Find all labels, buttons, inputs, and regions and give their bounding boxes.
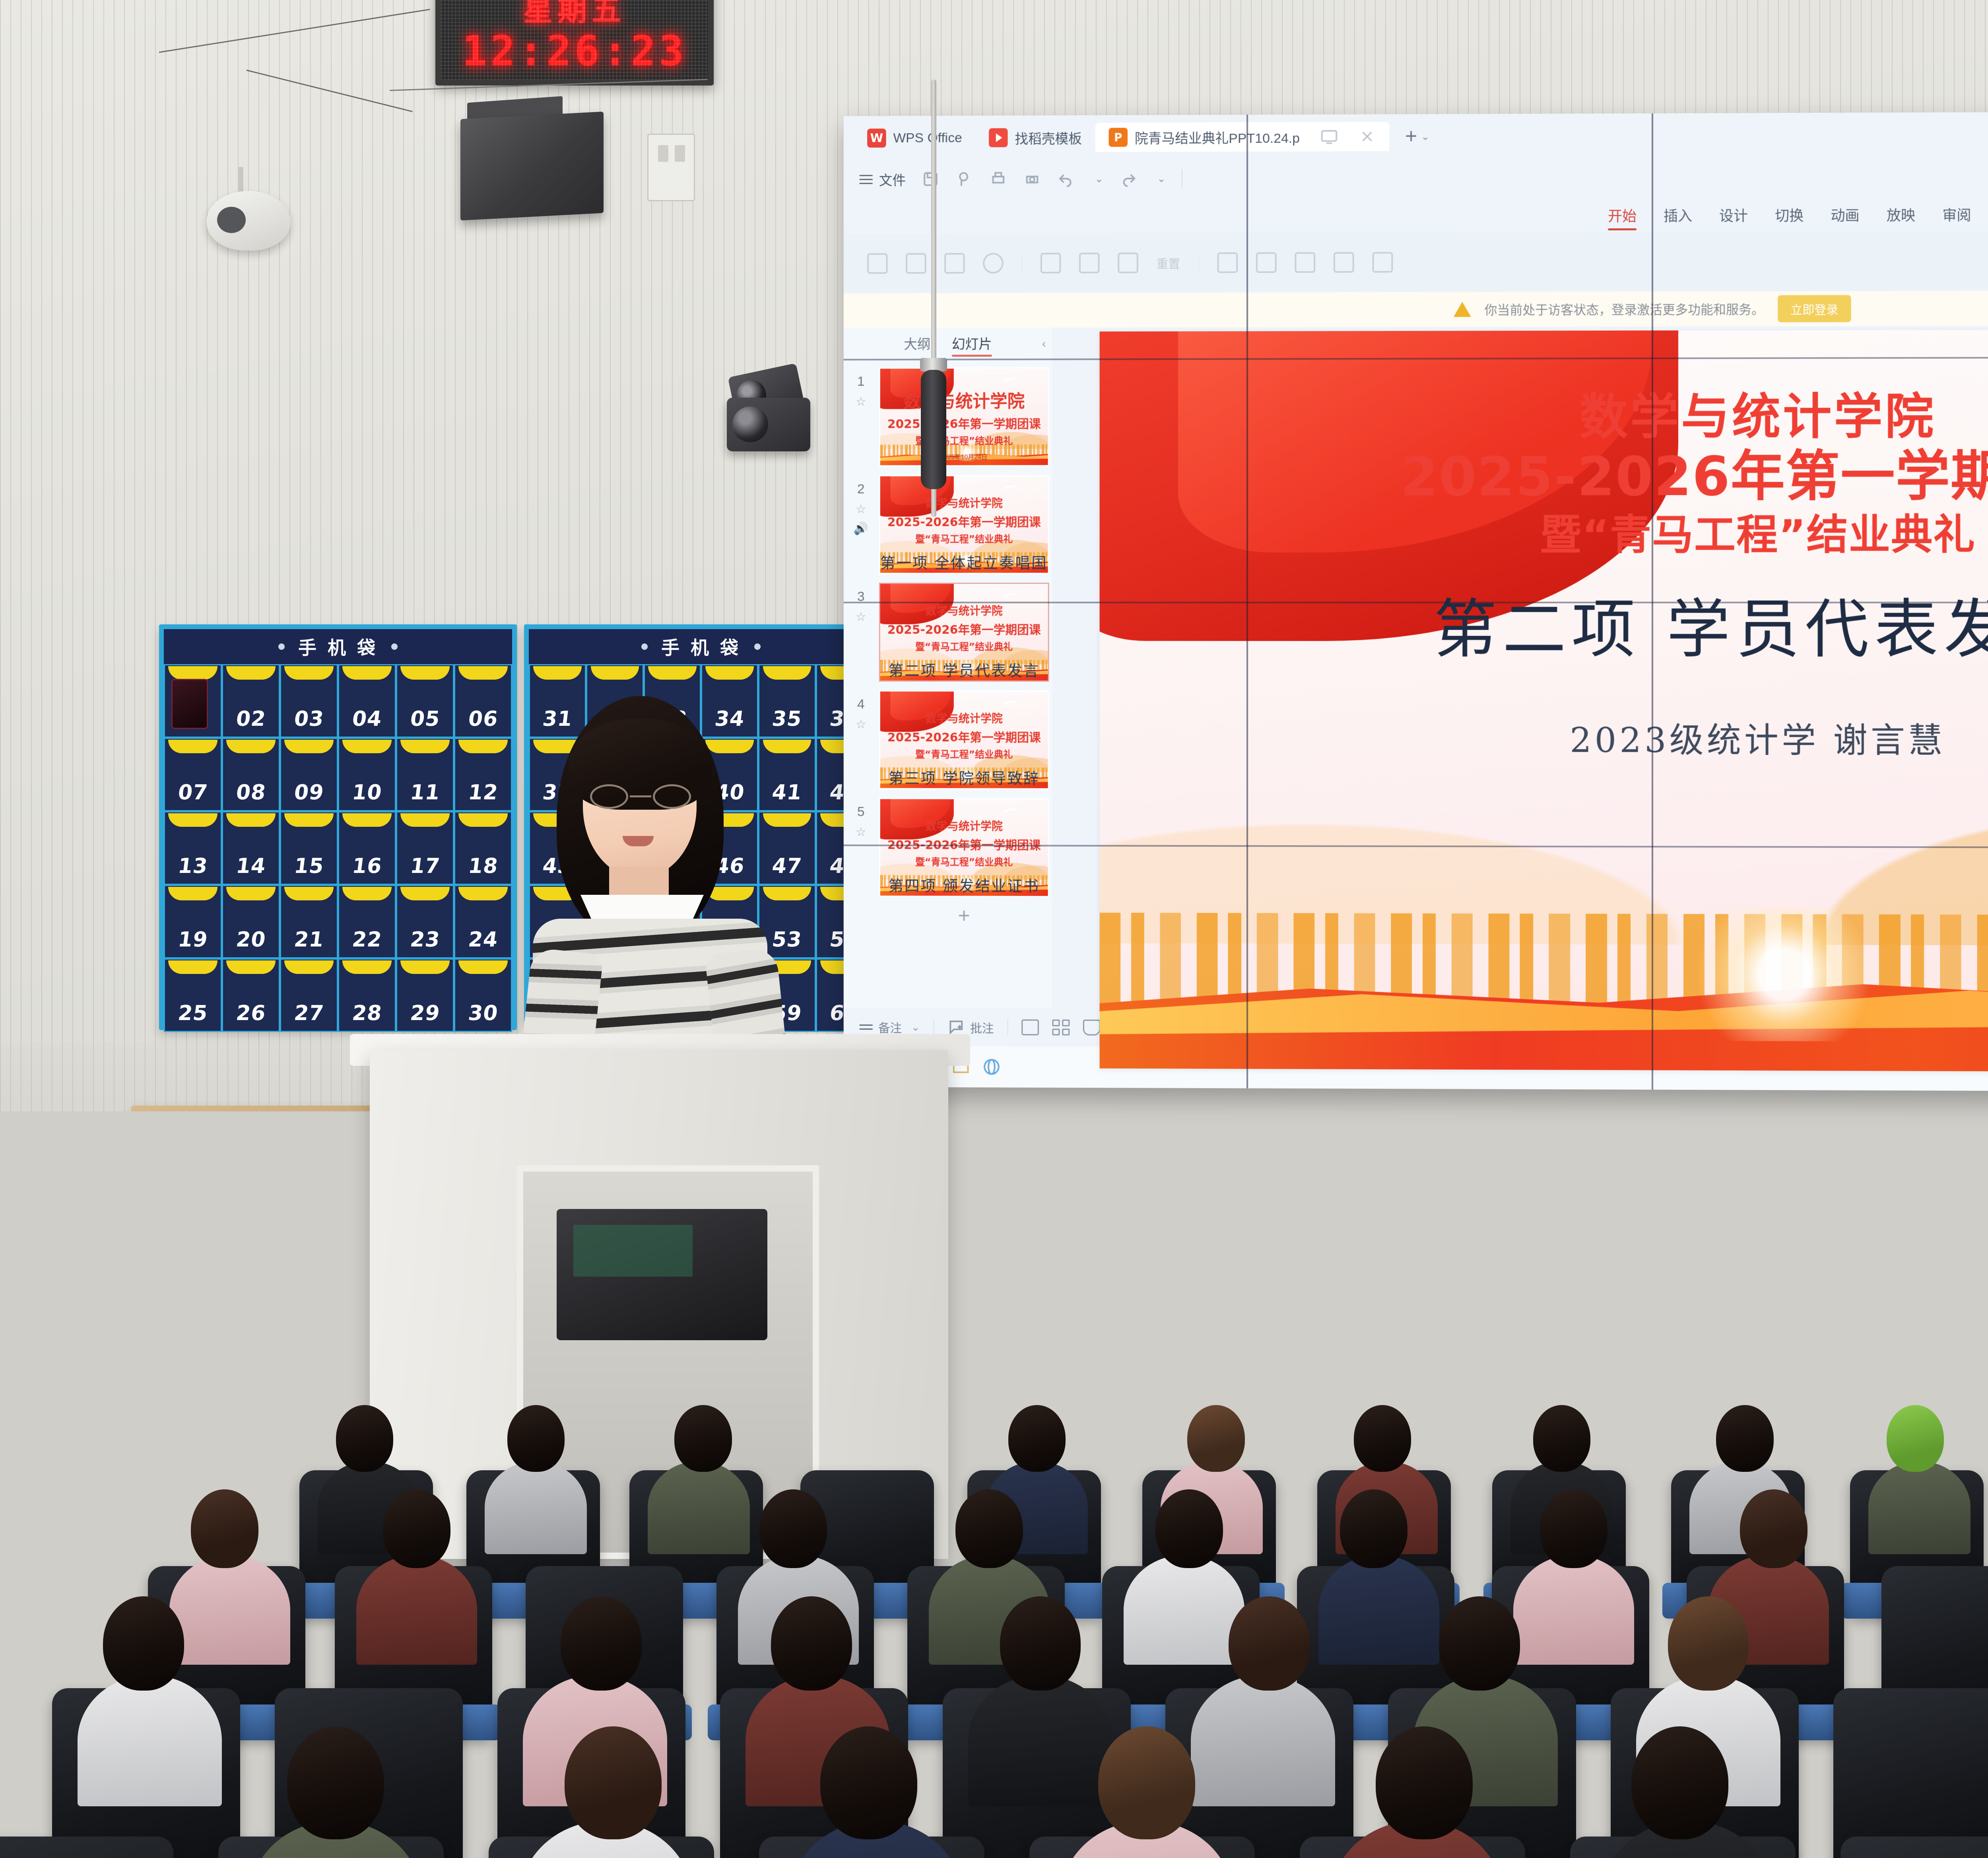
star-icon[interactable]: ☆	[856, 717, 866, 731]
audience-member-head	[759, 1489, 827, 1568]
new-tab-button[interactable]: +	[1405, 124, 1417, 148]
audience-member-head	[1887, 1405, 1944, 1472]
audience-member-head	[1155, 1489, 1223, 1568]
audience-member-head	[820, 1726, 917, 1839]
font-size-icon[interactable]	[1256, 252, 1277, 273]
phone-pocket-number: 01	[177, 707, 209, 731]
audio-icon[interactable]: 🔊	[854, 522, 868, 536]
audience-member-head	[1008, 1405, 1066, 1472]
led-clock-weekday: 星期五	[523, 0, 626, 25]
phone-pocket-number: 15	[293, 854, 325, 878]
phone-pocket-number: 13	[177, 854, 209, 878]
wps-app-name: WPS Office	[893, 130, 962, 146]
phone-pocket-title-text: 手 机 袋	[298, 634, 378, 660]
phone-pocket: 02	[222, 664, 280, 738]
slide-thumbnail[interactable]: 数学与统计学院2025-2026年第一学期团课暨“青马工程”结业典礼2025年1…	[879, 367, 1049, 466]
audience-member-shoulders	[648, 1461, 750, 1554]
dome-security-camera	[207, 191, 290, 251]
phone-pocket-number: 23	[409, 928, 441, 952]
font-icon[interactable]	[1217, 253, 1238, 273]
template-tab-label: 找稻壳模板	[1015, 128, 1082, 147]
phone-pocket: 24	[454, 885, 512, 958]
reset-label: 重置	[1157, 254, 1180, 272]
led-clock-time: 12:26:23	[462, 28, 687, 74]
search-doc-icon[interactable]	[955, 170, 974, 188]
print-preview-icon[interactable]	[1023, 170, 1041, 188]
ribbon-tab-insert[interactable]: 插入	[1650, 205, 1706, 232]
slide-editor: 数学与统计学院 2025-2026年第一学期团课 暨“青马工程”结业典礼 第二项…	[1052, 325, 1988, 1013]
audience-member-shoulders	[169, 1555, 290, 1665]
wps-ribbon-tabs: 开始 插入 设计 切换 动画 放映 审阅 视图 工具	[844, 194, 1988, 234]
phone-pocket-number: 07	[177, 781, 209, 805]
thumbpane-tab-outline[interactable]: 大纲	[904, 333, 930, 357]
chevron-down-icon[interactable]: ⌄	[1157, 172, 1166, 185]
phone-pocket: 12	[454, 738, 512, 811]
thumb-line3: 暨“青马工程”结业典礼	[915, 639, 1013, 653]
audience-member-head	[103, 1596, 184, 1691]
star-icon[interactable]: ☆	[856, 610, 866, 624]
reset-icon[interactable]	[1118, 253, 1138, 273]
phone-pocket-number: 21	[293, 928, 325, 952]
save-icon[interactable]	[922, 170, 940, 188]
audience-member-head	[1668, 1596, 1749, 1691]
slide-thumbnail-item[interactable]: 2☆🔊数学与统计学院2025-2026年第一学期团课暨“青马工程”结业典礼第一项…	[844, 472, 1052, 579]
thumbpane-tab-slides[interactable]: 幻灯片	[952, 333, 992, 357]
phone-pocket: 16	[338, 811, 396, 885]
thumb-line3: 暨“青马工程”结业典礼	[915, 746, 1013, 760]
comments-label: 批注	[970, 1018, 994, 1036]
thumb-line3: 暨“青马工程”结业典礼	[915, 531, 1013, 545]
chevron-left-icon[interactable]: ‹	[1042, 337, 1046, 351]
phone-pocket: 20	[222, 885, 280, 958]
chevron-down-icon[interactable]: ⌄	[1095, 173, 1104, 185]
lecture-hall-scene: 星期五 12:26:23 手 机 袋 010203040506070809101…	[0, 0, 1988, 1858]
phone-pocket-number: 03	[293, 707, 325, 731]
phone-pocket: 30	[454, 958, 512, 1032]
phone-pocket: 21	[280, 885, 338, 958]
phone-pocket: 19	[164, 885, 222, 958]
slide-line1: 数学与统计学院	[1579, 390, 1936, 443]
phone-pocket: 25	[164, 958, 222, 1032]
phone-pocket: 14	[222, 811, 280, 885]
phone-pocket: 29	[396, 958, 454, 1032]
thumb-line1: 数学与统计学院	[926, 710, 1003, 726]
audience-member-head	[771, 1596, 852, 1691]
phone-pocket-title-text: 手 机 袋	[661, 634, 741, 660]
ribbon-tab-home[interactable]: 开始	[1594, 205, 1650, 232]
audience-member-shoulders	[78, 1675, 222, 1806]
grommet-dot	[754, 643, 761, 650]
chevron-down-icon[interactable]: ⌄	[911, 1021, 920, 1033]
wps-ribbon-body: 重置	[844, 230, 1988, 293]
phone-pocket-title: 手 机 袋	[529, 629, 873, 664]
slide-thumbnail-item[interactable]: 3☆数学与统计学院2025-2026年第一学期团课暨“青马工程”结业典礼第二项 …	[844, 579, 1052, 687]
slide-number: 1	[857, 374, 865, 389]
thumb-line2: 2025-2026年第一学期团课	[887, 727, 1041, 745]
audience-member-head	[1340, 1489, 1408, 1568]
phone-pocket: 10	[338, 738, 396, 811]
phone-pocket: 08	[222, 738, 280, 811]
phone-pocket: 05	[396, 664, 454, 738]
audience-member-head	[1533, 1405, 1590, 1472]
phone-pocket-number: 30	[467, 1001, 499, 1025]
auditorium-seat	[1840, 1837, 1988, 1858]
view-normal-icon[interactable]	[1021, 1019, 1039, 1035]
wps-quick-access-bar: 文件	[844, 155, 1988, 198]
audience-member-shoulders	[1868, 1461, 1971, 1554]
wall-outlet	[647, 134, 695, 201]
audience-member-shoulders	[356, 1555, 477, 1665]
paste-icon[interactable]	[867, 253, 887, 274]
copy-icon[interactable]	[906, 253, 926, 274]
thumb-line1: 数学与统计学院	[926, 602, 1003, 618]
wps-logo-icon: W	[867, 128, 886, 148]
bold-icon[interactable]	[1295, 252, 1315, 273]
phone-pocket-number: 28	[351, 1001, 383, 1025]
phone-pocket-number: 18	[467, 854, 499, 878]
audience-member-head	[1740, 1489, 1807, 1568]
banner-message: 你当前处于访客状态，登录激活更多功能和服务。	[1485, 299, 1765, 318]
add-slide-button[interactable]: +	[879, 906, 1049, 927]
phone-pocket-number: 14	[235, 854, 267, 878]
phone-pocket-number: 06	[467, 707, 499, 731]
phone-pocket-number: 25	[177, 1001, 209, 1025]
slide-number: 4	[857, 697, 865, 712]
slide-subtitle: 2023级统计学 谢言慧	[1570, 712, 1945, 762]
ribbon-tab-transition[interactable]: 切换	[1761, 204, 1817, 231]
thumb-line2: 2025-2026年第一学期团课	[887, 512, 1041, 530]
wps-main-area: 大纲 幻灯片 ‹ 1☆数学与统计学院2025-2026年第一学期团课暨“青马工程…	[844, 325, 1988, 1013]
divider	[1007, 1019, 1008, 1035]
file-menu-button[interactable]: 文件	[859, 169, 906, 189]
thumb-line2: 2025-2026年第一学期团课	[887, 835, 1041, 853]
thumb-heading: 第一项 全体起立奏唱国歌	[880, 550, 1048, 574]
document-tab[interactable]: P 院青马结业典礼PPT10.24.p	[1095, 122, 1389, 152]
led-wall-clock: 星期五 12:26:23	[435, 0, 714, 86]
slide-thumbnail-pane: 大纲 幻灯片 ‹ 1☆数学与统计学院2025-2026年第一学期团课暨“青马工程…	[844, 328, 1052, 1009]
new-slide-icon[interactable]	[1041, 253, 1061, 274]
phone-pocket-number: 05	[409, 707, 441, 731]
hamburger-icon	[859, 172, 873, 187]
phone-pocket-number: 10	[351, 781, 383, 805]
warning-triangle-icon	[1454, 302, 1471, 317]
thumb-line3: 暨“青马工程”结业典礼	[915, 854, 1013, 868]
phone-pocket: 18	[454, 811, 512, 885]
ribbon-tab-review[interactable]: 审阅	[1929, 204, 1985, 231]
phone-pocket-number: 09	[293, 781, 325, 805]
italic-icon[interactable]	[1334, 252, 1354, 273]
format-painter-icon[interactable]	[983, 253, 1004, 274]
microphone-head	[921, 370, 946, 489]
phone-pocket: 11	[396, 738, 454, 811]
notes-label: 备注	[878, 1018, 902, 1036]
text-color-icon[interactable]	[1372, 252, 1393, 273]
phone-pocket-number: 17	[409, 854, 441, 878]
phone-pocket-grid: 0102030405060708091011121314151617181920…	[164, 664, 512, 1032]
divider	[933, 1019, 934, 1035]
thumbnail-text: 数学与统计学院2025-2026年第一学期团课暨“青马工程”结业典礼第三项 学院…	[880, 692, 1048, 788]
grommet-dot	[641, 643, 648, 650]
wall-speaker	[460, 112, 604, 221]
star-icon[interactable]: ☆	[856, 395, 866, 409]
close-icon[interactable]	[1358, 128, 1376, 145]
recording-camera-body	[727, 398, 810, 451]
grommet-dot	[278, 643, 285, 650]
thumb-line1: 数学与统计学院	[926, 495, 1003, 511]
led-panel-seam	[844, 602, 1988, 603]
phone-pocket-number: 20	[235, 928, 267, 952]
audience-member-shoulders	[485, 1461, 587, 1554]
phone-pocket: 07	[164, 738, 222, 811]
audience-member-head	[955, 1489, 1023, 1568]
ribbon-tab-animation[interactable]: 动画	[1817, 204, 1873, 231]
slide-number: 2	[857, 482, 865, 497]
thumb-date: 2025年10月24日	[941, 452, 988, 461]
thumb-line2: 2025-2026年第一学期团课	[887, 620, 1041, 637]
audience-member-head	[1716, 1405, 1773, 1472]
audience-member-shoulders	[1124, 1555, 1244, 1665]
slide-heading: 第二项 学员代表发言	[1433, 595, 1988, 665]
phone-pocket: 06	[454, 664, 512, 738]
phone-pocket: 04	[338, 664, 396, 738]
slide-line3: 暨“青马工程”结业典礼	[1540, 511, 1976, 559]
audience-member-head	[1000, 1596, 1081, 1691]
phone-pocket: 27	[280, 958, 338, 1032]
slide-thumbnail[interactable]: 数学与统计学院2025-2026年第一学期团课暨“青马工程”结业典礼第四项 颁发…	[879, 798, 1049, 897]
phone-pocket-number: 27	[293, 1001, 325, 1025]
banner-login-button[interactable]: 立即登录	[1778, 295, 1851, 322]
audience-member-head	[1631, 1726, 1728, 1839]
phone-pocket-number: 26	[235, 1001, 267, 1025]
guest-status-banner: 你当前处于访客状态，登录激活更多功能和服务。 立即登录	[844, 290, 1988, 328]
thumbnail-text: 数学与统计学院2025-2026年第一学期团课暨“青马工程”结业典礼第四项 颁发…	[880, 799, 1048, 896]
thumbnail-meta: 1☆	[847, 367, 875, 466]
phone-pocket: 22	[338, 885, 396, 958]
print-icon[interactable]	[989, 170, 1008, 188]
browser-icon[interactable]	[982, 1057, 1001, 1077]
audience-member-head	[674, 1405, 732, 1472]
slide-thumbnail[interactable]: 数学与统计学院2025-2026年第一学期团课暨“青马工程”结业典礼第一项 全体…	[879, 475, 1049, 574]
audience-member-shoulders	[1513, 1555, 1634, 1665]
audience-member-shoulders	[968, 1675, 1112, 1806]
audience-member-head	[1540, 1489, 1607, 1568]
thumbnail-meta: 5☆	[847, 798, 875, 897]
phone-pocket: 03	[280, 664, 338, 738]
wps-home-tab[interactable]: W WPS Office	[854, 123, 975, 153]
audience-member-shoulders	[1191, 1675, 1335, 1806]
audience-member-head	[1187, 1405, 1244, 1472]
redo-icon[interactable]	[1119, 169, 1138, 188]
comment-add-icon	[947, 1018, 965, 1036]
present-to-screen-icon[interactable]	[1320, 128, 1338, 146]
slide-thumbnail-list[interactable]: 1☆数学与统计学院2025-2026年第一学期团课暨“青马工程”结业典礼2025…	[844, 362, 1052, 1009]
thumb-line2: 2025-2026年第一学期团课	[887, 414, 1041, 431]
thumbnail-meta: 2☆🔊	[847, 475, 875, 574]
auditorium-seat	[1833, 1688, 1988, 1858]
thumb-heading: 第二项 学员代表发言	[888, 658, 1039, 680]
thumbpane-tabs: 大纲 幻灯片 ‹	[844, 328, 1052, 362]
thumbnail-meta: 3☆	[847, 583, 875, 682]
audience-seating	[0, 1114, 1988, 1858]
undo-icon[interactable]	[1057, 169, 1075, 188]
chevron-down-icon[interactable]: ⌄	[1421, 130, 1430, 142]
ribbon-tab-design[interactable]: 设计	[1706, 204, 1761, 231]
slide-thumbnail-item[interactable]: 5☆数学与统计学院2025-2026年第一学期团课暨“青马工程”结业典礼第四项 …	[844, 795, 1052, 903]
phone-pocket-board-left: 手 机 袋 0102030405060708091011121314151617…	[159, 624, 517, 1030]
file-menu-label: 文件	[879, 169, 906, 189]
led-video-wall: W WPS Office 找稻壳模板 P 院青马结业典礼PPT10.24.p	[844, 111, 1988, 1092]
template-store-tab[interactable]: 找稻壳模板	[975, 123, 1095, 153]
thumb-line1: 数学与统计学院	[926, 818, 1003, 834]
phone-pocket: 15	[280, 811, 338, 885]
thumbnail-meta: 4☆	[847, 690, 875, 789]
phone-pocket: 17	[396, 811, 454, 885]
audience-member-head	[1439, 1596, 1520, 1691]
slide-text-content: 数学与统计学院 2025-2026年第一学期团课 暨“青马工程”结业典礼 第二项…	[1100, 329, 1988, 1073]
phone-pocket: 23	[396, 885, 454, 958]
notes-icon	[859, 1022, 873, 1032]
phone-pocket-number: 29	[409, 1001, 441, 1025]
ribbon-tab-view[interactable]: 视图	[1985, 204, 1988, 231]
slide-line2: 2025-2026年第一学期团课	[1400, 445, 1988, 508]
thumbnail-text: 数学与统计学院2025-2026年第一学期团课暨“青马工程”结业典礼第二项 学员…	[880, 584, 1048, 680]
phone-pocket: 13	[164, 811, 222, 885]
slide-number: 5	[857, 804, 865, 820]
notes-toggle-button[interactable]: 备注 ⌄	[859, 1018, 920, 1036]
wps-title-bar: W WPS Office 找稻壳模板 P 院青马结业典礼PPT10.24.p	[844, 111, 1988, 160]
audience-member-head	[1376, 1726, 1473, 1839]
slide-thumbnail[interactable]: 数学与统计学院2025-2026年第一学期团课暨“青马工程”结业典礼第二项 学员…	[879, 583, 1049, 682]
phone-pocket-number: 04	[351, 707, 383, 731]
layout-icon[interactable]	[1079, 253, 1100, 273]
grommet-dot	[391, 643, 398, 650]
phone-pocket: 28	[338, 958, 396, 1032]
phone-pocket-title: 手 机 袋	[164, 629, 512, 664]
star-icon[interactable]: ☆	[856, 502, 866, 516]
glasses	[590, 784, 691, 809]
slide-thumbnail-item[interactable]: 4☆数学与统计学院2025-2026年第一学期团课暨“青马工程”结业典礼第三项 …	[844, 687, 1052, 795]
audience-member-head	[191, 1489, 258, 1568]
thumbnail-text: 数学与统计学院2025-2026年第一学期团课暨“青马工程”结业典礼第一项 全体…	[880, 476, 1048, 573]
thumbnail-text: 数学与统计学院2025-2026年第一学期团课暨“青马工程”结业典礼2025年1…	[880, 368, 1048, 465]
audience-member-head	[561, 1596, 642, 1691]
template-icon	[989, 128, 1008, 147]
slide-thumbnail-item[interactable]: 1☆数学与统计学院2025-2026年第一学期团课暨“青马工程”结业典礼2025…	[844, 364, 1052, 472]
thumb-heading: 第三项 学院领导致辞	[888, 766, 1039, 788]
divider	[1182, 169, 1182, 188]
cut-icon[interactable]	[944, 253, 965, 274]
phone-pocket-number: 22	[351, 928, 383, 952]
microphone-clip	[920, 358, 947, 371]
phone-pocket-number: 12	[467, 781, 499, 805]
phone-pocket: 01	[164, 664, 222, 738]
phone-pocket-number: 11	[409, 781, 441, 805]
audience-member-head	[1229, 1596, 1310, 1691]
comments-button[interactable]: 批注	[947, 1018, 994, 1036]
thumb-heading: 第四项 颁发结业证书	[888, 873, 1039, 895]
audience-member-head	[383, 1489, 450, 1568]
slide-thumbnail[interactable]: 数学与统计学院2025-2026年第一学期团课暨“青马工程”结业典礼第三项 学院…	[879, 690, 1049, 789]
phone-pocket: 26	[222, 958, 280, 1032]
audience-member-head	[1354, 1405, 1411, 1472]
powerpoint-file-icon: P	[1109, 128, 1128, 147]
audience-member-head	[565, 1726, 662, 1839]
view-reading-icon[interactable]	[1083, 1020, 1101, 1036]
phone-pocket: 09	[280, 738, 338, 811]
phone-pocket-number: 08	[235, 781, 267, 805]
audience-member-head	[287, 1726, 384, 1839]
view-sorter-icon[interactable]	[1052, 1020, 1070, 1036]
audience-member-head	[1098, 1726, 1195, 1839]
ribbon-tab-slideshow[interactable]: 放映	[1873, 204, 1929, 231]
audience-member-head	[507, 1405, 565, 1472]
phone-pocket-number: 19	[177, 928, 209, 952]
phone-pocket-number: 16	[351, 854, 383, 878]
audience-member-shoulders	[1318, 1555, 1439, 1665]
phone-pocket-number: 02	[235, 707, 267, 731]
star-icon[interactable]: ☆	[856, 825, 866, 839]
phone-pocket-number: 24	[467, 928, 499, 952]
document-tab-label: 院青马结业典礼PPT10.24.p	[1135, 127, 1300, 147]
current-slide[interactable]: 数学与统计学院 2025-2026年第一学期团课 暨“青马工程”结业典礼 第二项…	[1100, 329, 1988, 1073]
audience-member-head	[336, 1405, 393, 1472]
add-slide-row[interactable]: +	[844, 902, 1052, 932]
auditorium-seat	[0, 1837, 173, 1858]
